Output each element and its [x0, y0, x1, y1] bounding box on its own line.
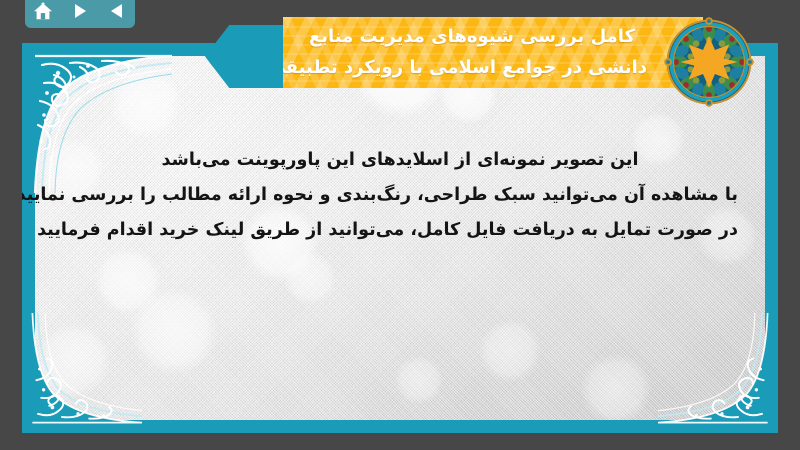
next-button[interactable]	[67, 0, 93, 23]
triangle-left-icon	[108, 2, 126, 20]
bokeh-light	[36, 324, 110, 398]
bokeh-light	[111, 68, 181, 138]
triangle-right-icon	[71, 2, 89, 20]
title-line-1: کامل بررسی شیوه‌های مدیریت منابع	[297, 21, 647, 52]
home-button[interactable]	[30, 0, 56, 23]
body-line: با مشاهده آن می‌توانید سبک طراحی، رنگ‌بن…	[62, 178, 738, 213]
slide-preview-stage: این تصویر نمونه‌ای از اسلایدهای این پاور…	[0, 0, 800, 450]
bokeh-light	[479, 320, 541, 382]
slide-body-text: این تصویر نمونه‌ای از اسلایدهای این پاور…	[62, 143, 738, 248]
navigation-bar	[25, 0, 135, 28]
title-line-2: دانشی در جوامع اسلامی با رویکرد تطبیقی	[297, 52, 647, 83]
bokeh-light	[395, 356, 443, 404]
home-icon	[33, 2, 53, 21]
bokeh-light	[284, 252, 336, 304]
title-banner: کامل بررسی شیوه‌های مدیریت منابع دانشی د…	[283, 17, 703, 88]
islamic-medallion-ornament-icon	[663, 16, 755, 108]
body-line: این تصویر نمونه‌ای از اسلایدهای این پاور…	[62, 143, 738, 178]
previous-button[interactable]	[104, 0, 130, 23]
bokeh-light	[581, 354, 651, 420]
body-line: در صورت تمایل به دریافت فایل کامل، می‌تو…	[62, 213, 738, 248]
bokeh-light	[95, 248, 161, 314]
bokeh-light	[131, 288, 217, 374]
page-title: کامل بررسی شیوه‌های مدیریت منابع دانشی د…	[283, 17, 703, 83]
